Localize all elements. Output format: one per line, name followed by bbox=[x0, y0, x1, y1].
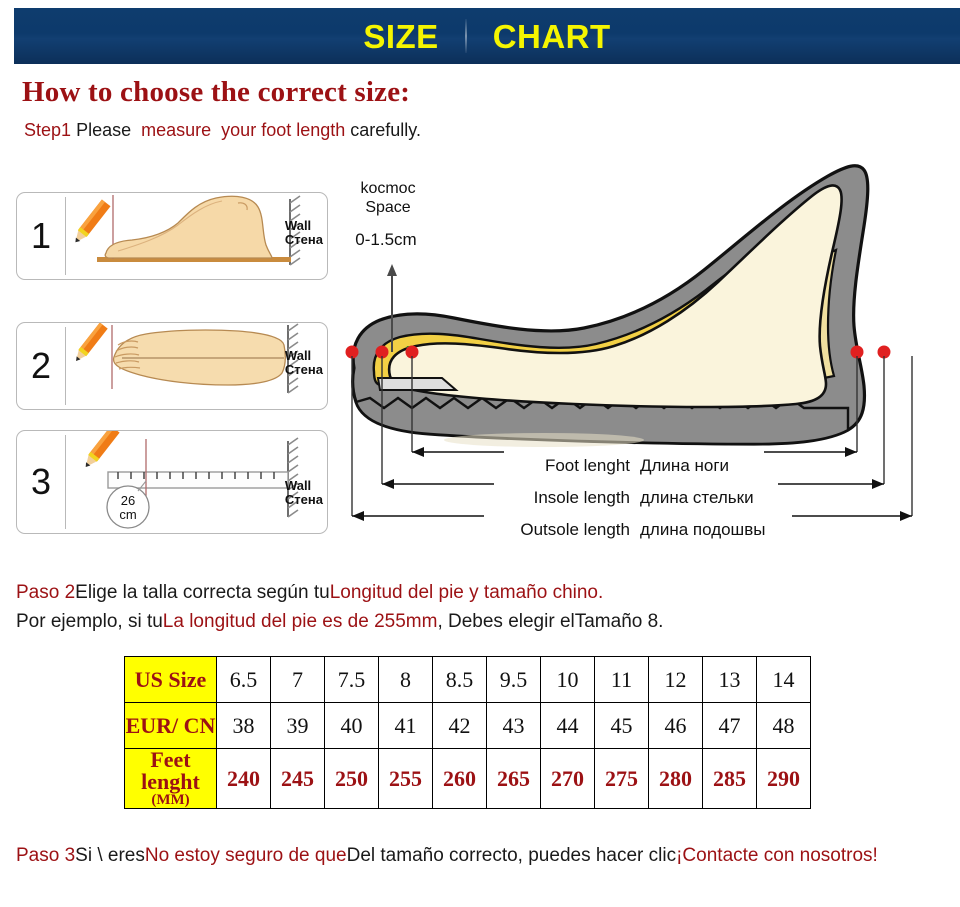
wall-label-3: Wall Cтена bbox=[285, 479, 323, 506]
step1-word-carefully: carefully. bbox=[350, 120, 421, 140]
wall-label-2: Wall Cтена bbox=[285, 349, 323, 376]
step-panel-1: 1 bbox=[16, 192, 328, 280]
step2-text-black: Elige la talla correcta según tu bbox=[75, 582, 330, 603]
step1-label: Step1 bbox=[24, 120, 71, 140]
wall-label-en: Wall bbox=[285, 349, 323, 363]
table-row-feet-length: Feet lenght (MM) 240 245 250 255 260 265… bbox=[125, 749, 811, 809]
step-panel-3: 3 bbox=[16, 430, 328, 534]
banner-word-size: SIZE bbox=[337, 20, 464, 53]
cell-feet-length: 280 bbox=[649, 749, 703, 809]
cell-feet-length: 265 bbox=[487, 749, 541, 809]
row-label-feet-length-unit: (MM) bbox=[125, 793, 216, 808]
wall-label-1: Wall Cтена bbox=[285, 219, 323, 246]
wall-label-en: Wall bbox=[285, 479, 323, 493]
cell-us-size: 7 bbox=[271, 657, 325, 703]
measurement-label-en: Outsole length bbox=[490, 520, 630, 540]
step-number-3: 3 bbox=[17, 431, 65, 533]
size-chart-table: US Size 6.5 7 7.5 8 8.5 9.5 10 11 12 13 … bbox=[124, 656, 811, 809]
step1-word-please: Please bbox=[76, 120, 131, 140]
step3-label: Paso 3 bbox=[16, 845, 75, 866]
cell-eur-cn: 39 bbox=[271, 703, 325, 749]
space-label-ru: kocmoc bbox=[360, 180, 415, 197]
cell-us-size: 6.5 bbox=[217, 657, 271, 703]
step2-label: Paso 2 bbox=[16, 582, 75, 603]
cell-feet-length: 285 bbox=[703, 749, 757, 809]
cell-eur-cn: 45 bbox=[595, 703, 649, 749]
cell-us-size: 14 bbox=[757, 657, 811, 703]
cell-us-size: 7.5 bbox=[325, 657, 379, 703]
space-value: 0-1.5cm bbox=[334, 230, 438, 250]
step2-line-2: Por ejemplo, si tuLa longitud del pie es… bbox=[16, 607, 663, 636]
row-label-us-size: US Size bbox=[125, 657, 217, 703]
cell-eur-cn: 42 bbox=[433, 703, 487, 749]
step2-line-1: Paso 2Elige la talla correcta según tuLo… bbox=[16, 582, 603, 603]
step3-text-black-1: Si \ eres bbox=[75, 845, 145, 866]
step1-word-measure: measure bbox=[141, 120, 211, 140]
measurement-label-ru: длина стельки bbox=[640, 488, 800, 508]
svg-text:26: 26 bbox=[121, 493, 135, 508]
step2-instruction: Paso 2Elige la talla correcta según tuLo… bbox=[16, 578, 663, 637]
step3-instruction: Paso 3Si \ eresNo estoy seguro de queDel… bbox=[16, 843, 946, 868]
step-number-1: 1 bbox=[17, 193, 65, 279]
banner-inner: SIZE CHART bbox=[337, 19, 636, 53]
cell-us-size: 8 bbox=[379, 657, 433, 703]
cell-eur-cn: 47 bbox=[703, 703, 757, 749]
cell-feet-length: 290 bbox=[757, 749, 811, 809]
row-label-eur-cn: EUR/ CN bbox=[125, 703, 217, 749]
step2-example-length: La longitud del pie es de 255mm bbox=[163, 611, 438, 632]
table-row-eur-cn: EUR/ CN 38 39 40 41 42 43 44 45 46 47 48 bbox=[125, 703, 811, 749]
step-panel-2: 2 bbox=[16, 322, 328, 410]
cell-feet-length: 240 bbox=[217, 749, 271, 809]
measurement-row: Foot lenght Длина ноги bbox=[334, 452, 956, 480]
measurement-label-en: Insole length bbox=[500, 488, 630, 508]
cell-us-size: 13 bbox=[703, 657, 757, 703]
space-label-en: Space bbox=[365, 199, 410, 216]
step3-text-red-1: No estoy seguro de que bbox=[145, 845, 347, 866]
measurement-label-en: Foot lenght bbox=[510, 456, 630, 476]
cell-eur-cn: 41 bbox=[379, 703, 433, 749]
cell-feet-length: 255 bbox=[379, 749, 433, 809]
step2-example-prefix: Por ejemplo, si tu bbox=[16, 611, 163, 632]
cell-us-size: 9.5 bbox=[487, 657, 541, 703]
cell-eur-cn: 38 bbox=[217, 703, 271, 749]
measurement-row: Outsole length длина подошвы bbox=[334, 516, 956, 544]
size-chart-banner: SIZE CHART bbox=[14, 8, 960, 64]
measurement-row: Insole length длина стельки bbox=[334, 484, 956, 512]
svg-text:cm: cm bbox=[119, 507, 136, 522]
table-row-us-size: US Size 6.5 7 7.5 8 8.5 9.5 10 11 12 13 … bbox=[125, 657, 811, 703]
row-label-feet-length-text: Feet lenght bbox=[141, 747, 200, 794]
step2-example-mid: , Debes elegir el bbox=[437, 611, 574, 632]
step2-text-red: Longitud del pie y tamaño chino. bbox=[330, 582, 604, 603]
measurement-label-ru: длина подошвы bbox=[640, 520, 810, 540]
contact-us-link[interactable]: ¡Contacte con nosotros! bbox=[676, 845, 878, 866]
cell-feet-length: 275 bbox=[595, 749, 649, 809]
step1-word-footlength: your foot length bbox=[221, 120, 345, 140]
step3-text-black-2: Del tamaño correcto, puedes hacer clic bbox=[347, 845, 677, 866]
cell-us-size: 11 bbox=[595, 657, 649, 703]
measurement-legend: Foot lenght Длина ноги Insole length дли… bbox=[334, 452, 956, 544]
cell-eur-cn: 40 bbox=[325, 703, 379, 749]
cell-feet-length: 245 bbox=[271, 749, 325, 809]
measurement-label-ru: Длина ноги bbox=[640, 456, 780, 476]
cell-feet-length: 260 bbox=[433, 749, 487, 809]
page-title: How to choose the correct size: bbox=[22, 76, 410, 109]
wall-label-ru: Cтена bbox=[285, 233, 323, 247]
wall-label-ru: Cтена bbox=[285, 493, 323, 507]
cell-feet-length: 270 bbox=[541, 749, 595, 809]
cell-eur-cn: 44 bbox=[541, 703, 595, 749]
cell-us-size: 8.5 bbox=[433, 657, 487, 703]
cell-us-size: 10 bbox=[541, 657, 595, 703]
cell-eur-cn: 43 bbox=[487, 703, 541, 749]
step2-example-size: Tamaño 8. bbox=[575, 611, 664, 632]
banner-word-chart: CHART bbox=[467, 20, 637, 53]
step1-instruction: Step1 Please measure your foot length ca… bbox=[24, 120, 421, 141]
cell-us-size: 12 bbox=[649, 657, 703, 703]
cell-eur-cn: 48 bbox=[757, 703, 811, 749]
cell-feet-length: 250 bbox=[325, 749, 379, 809]
row-label-feet-length: Feet lenght (MM) bbox=[125, 749, 217, 809]
space-label: kocmoc Space bbox=[340, 180, 436, 218]
step-number-2: 2 bbox=[17, 323, 65, 409]
wall-label-en: Wall bbox=[285, 219, 323, 233]
wall-label-ru: Cтена bbox=[285, 363, 323, 377]
size-chart-table-wrapper: US Size 6.5 7 7.5 8 8.5 9.5 10 11 12 13 … bbox=[124, 656, 811, 809]
cell-eur-cn: 46 bbox=[649, 703, 703, 749]
